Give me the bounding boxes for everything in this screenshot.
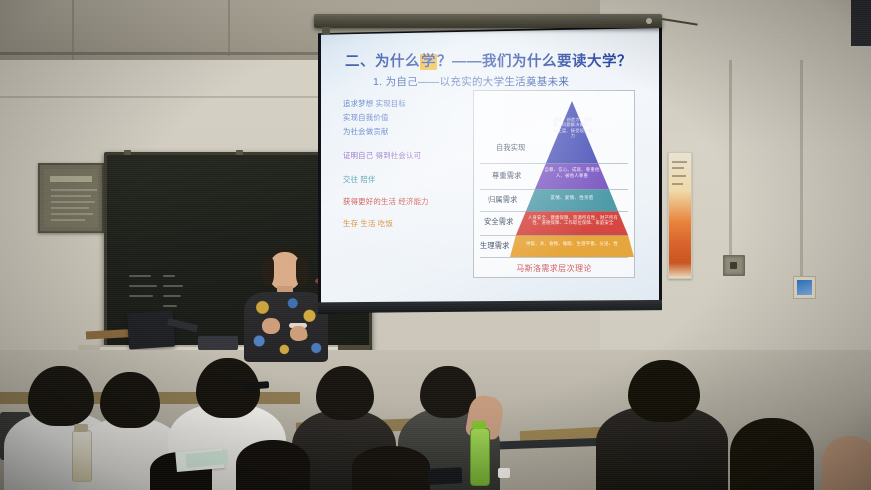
paper-scrap (498, 468, 510, 478)
roller-knob-icon (646, 18, 652, 24)
wall-small-sign (793, 276, 816, 299)
instructor-hair-right (296, 258, 309, 286)
tier-label-physiological: 生理需求 (480, 241, 510, 251)
student-head (100, 372, 160, 428)
instructor-floral-blouse (244, 292, 328, 362)
outlet-socket-icon (730, 262, 737, 269)
annotation-1: 实现自我价值 (343, 112, 389, 123)
wall-power-outlet[interactable] (723, 255, 745, 276)
annotation-4: 交往 陪伴 (343, 174, 376, 185)
smartphone (428, 467, 463, 485)
wall-notice-frame (38, 163, 104, 233)
student-head (352, 446, 430, 490)
annotation-0: 追求梦想 实现目标 (343, 98, 406, 109)
slide-title: 二、为什么学？——我们为什么要读大学？ (345, 50, 632, 71)
annotation-5: 获得更好的生活 经济能力 (343, 196, 429, 207)
classroom-photo: 二、为什么学？——我们为什么要读大学？ 1. 为自己——以充实的大学生活奠基未来… (0, 0, 871, 490)
annotation-2: 为社会做贡献 (343, 126, 389, 137)
screen-roller-housing[interactable] (314, 14, 662, 28)
tier-items-belonging: 友情、爱情、性亲密 (540, 195, 604, 201)
tier-items-esteem: 自尊、信心、成就、尊重他人、被他人尊重 (542, 167, 602, 178)
wall-conduit (800, 60, 803, 278)
av-equipment (127, 310, 175, 349)
student-head (730, 418, 814, 490)
student-head (236, 440, 310, 490)
student-head (28, 366, 94, 426)
tier-label-safety: 安全需求 (484, 217, 514, 227)
instructor-hair-left (261, 258, 274, 286)
tier-label-belonging: 归属需求 (488, 195, 518, 205)
blackboard-clip (236, 150, 243, 155)
tier-label-esteem: 尊重需求 (492, 171, 522, 181)
instructor-left-hand (262, 318, 280, 334)
green-water-bottle (470, 428, 490, 486)
pyramid-caption: 马斯洛需求层次理论 (474, 263, 634, 274)
notice-text-line (51, 195, 91, 197)
annotation-3: 证明自己 得到社会认可 (343, 150, 421, 161)
projection-screen[interactable]: 二、为什么学？——我们为什么要读大学？ 1. 为自己——以充实的大学生活奠基未来… (321, 28, 659, 309)
instructor-right-hand (290, 326, 307, 341)
slide-title-prefix: 二、为什么 (345, 54, 420, 70)
tier-label-self-actualization: 自我实现 (496, 143, 526, 153)
notice-inner-panel (44, 169, 98, 227)
student-head (316, 366, 374, 420)
slide-subtitle: 1. 为自己——以充实的大学生活奠基未来 (373, 74, 569, 89)
blackboard-clip (124, 150, 131, 155)
student-head (822, 436, 871, 490)
water-bottle (72, 430, 92, 482)
student-head (628, 360, 700, 422)
slide-title-highlight: 学 (420, 54, 437, 70)
small-sign-image (797, 280, 812, 295)
annotation-6: 生存 生活 吃饭 (343, 218, 393, 229)
notice-text-line (51, 189, 97, 191)
tier-items-safety: 人身安全、健康保障、资源所有性、财产所有性、道德保障、工作职位保障、家庭安全 (528, 215, 618, 226)
notice-text-line (51, 201, 95, 203)
wall-seam (72, 0, 74, 60)
wall-conduit (729, 60, 732, 256)
screen-mount-bracket (322, 27, 330, 34)
slide-title-suffix: ？——我们为什么要读大学？ (437, 54, 632, 70)
notice-heading-bar (50, 176, 92, 182)
notice-text-line (51, 219, 85, 221)
notice-text-line (51, 213, 93, 215)
bottle-cap (74, 424, 88, 432)
ceiling-dark-panel (851, 0, 871, 46)
pyramid-graphic: 自我实现 尊重需求 归属需求 安全需求 生理需求 道德、创造力、自觉性、问题解决… (474, 91, 634, 261)
notice-text-line (51, 207, 89, 209)
wall-seam (228, 0, 230, 56)
bottle-cap (472, 421, 486, 429)
tier-items-physiological: 呼吸、水、食物、睡眠、生理平衡、分泌、性 (520, 241, 624, 246)
maslow-diagram: 自我实现 尊重需求 归属需求 安全需求 生理需求 道德、创造力、自觉性、问题解决… (473, 90, 635, 278)
tier-items-self-actualization: 道德、创造力、自觉性、问题解决能力、公正度、接受现实能力 (552, 117, 594, 138)
student-head (420, 366, 476, 418)
wall-poster (668, 152, 692, 279)
